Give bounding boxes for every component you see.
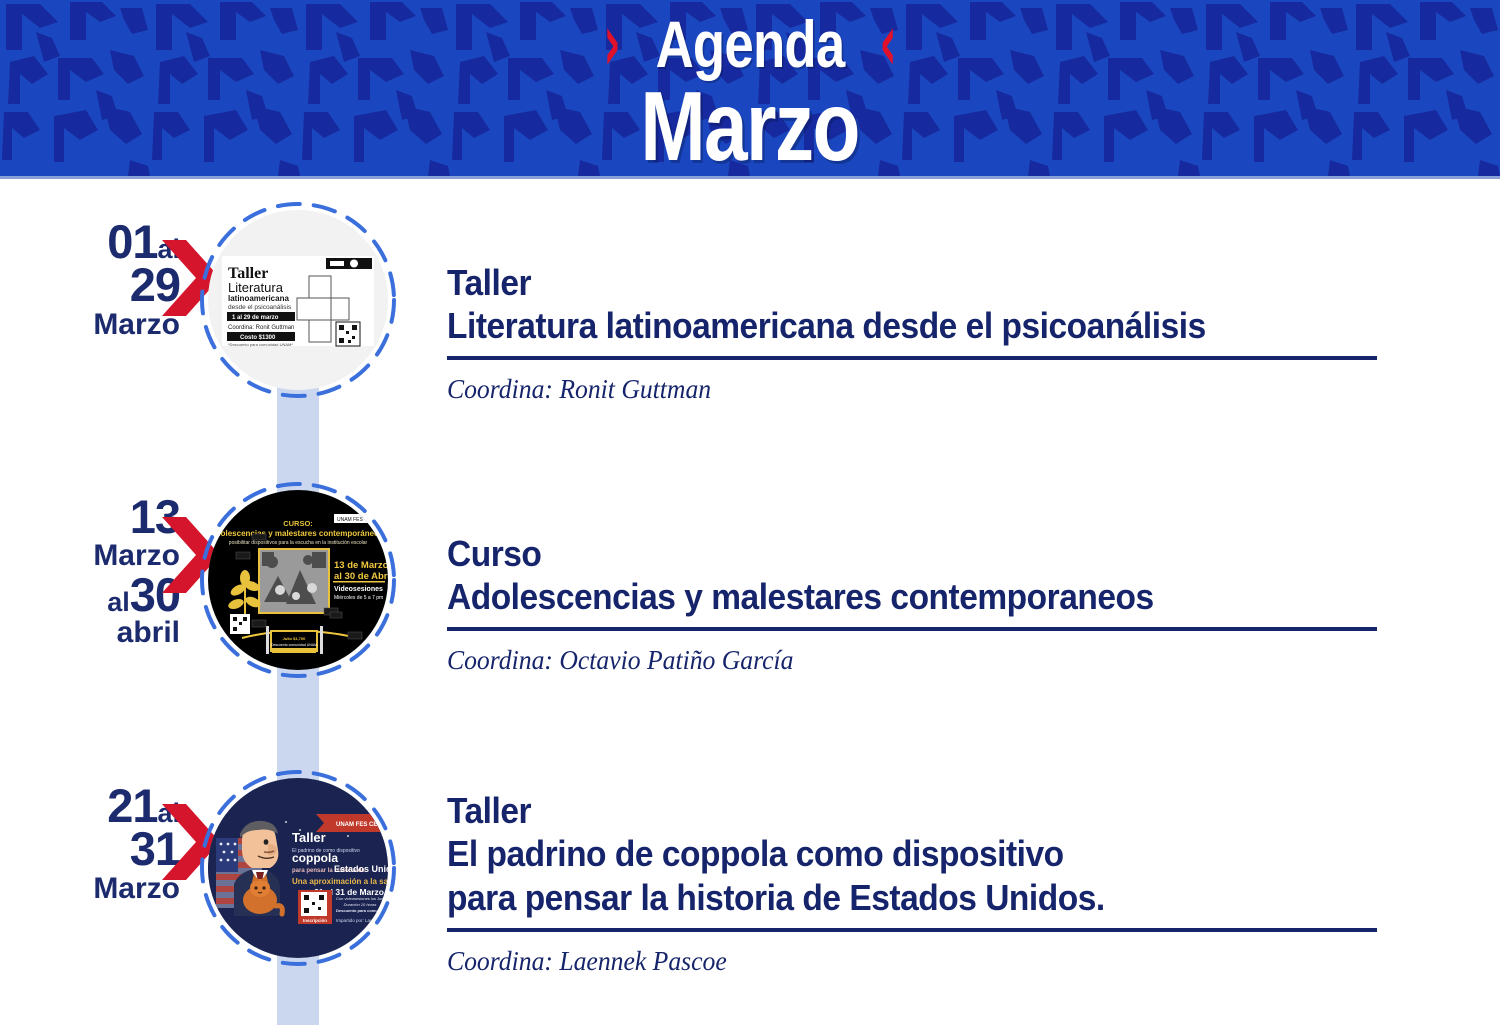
header-kicker: Agenda (656, 8, 845, 80)
svg-text:Julio $1,700: Julio $1,700 (283, 636, 306, 641)
page-header: › Agenda ‹ Marzo (0, 0, 1500, 176)
svg-text:posibilitar dispositivos para: posibilitar dispositivos para la escucha… (229, 540, 368, 546)
svg-text:al 30 de Abril: al 30 de Abril (334, 571, 388, 582)
entry-text: Taller El padrino de coppola como dispos… (447, 790, 1377, 978)
date-connector: al (107, 589, 130, 616)
svg-text:CURSO:: CURSO: (283, 519, 313, 528)
svg-text:latinoamericana: latinoamericana (228, 294, 289, 303)
agenda-entry[interactable]: 21 al 31 Marzo (0, 770, 1500, 1020)
header-divider (0, 176, 1500, 179)
svg-text:Una aproximación a la saga Cor: Una aproximación a la saga Corleone (292, 877, 388, 886)
chevron-right-icon: › (603, 4, 620, 84)
svg-text:Impartido por: Laennek Pascoe: Impartido por: Laennek Pascoe (336, 918, 388, 923)
svg-text:UNAM FES: UNAM FES (337, 517, 364, 523)
poster-image: UNAM FES CURSO: Adolescencias y malestar… (208, 490, 388, 670)
svg-text:Descuento comunidad UNAM: Descuento comunidad UNAM (271, 643, 317, 647)
svg-text:UNAM FES CEI: UNAM FES CEI (336, 822, 379, 828)
entry-thumbnail[interactable]: UNAM FES CEI Taller El padrino de como d… (208, 778, 388, 958)
entry-divider (447, 928, 1377, 932)
svg-text:Con videosesiones los Jueves d: Con videosesiones los Jueves de 6 a 8 pm (336, 896, 388, 901)
svg-text:Inscripción: Inscripción (303, 918, 327, 923)
entry-text: Taller Literatura latinoamericana desde … (447, 262, 1377, 406)
entry-coordinator: Coordina: Laennek Pascoe (447, 944, 1331, 978)
svg-text:13 de Marzo: 13 de Marzo (334, 560, 388, 571)
svg-text:1 al 29 de marzo: 1 al 29 de marzo (232, 315, 279, 321)
svg-text:Miércoles de 5 a 7 pm: Miércoles de 5 a 7 pm (334, 595, 383, 601)
svg-text:Taller: Taller (292, 830, 326, 845)
entry-coordinator: Coordina: Octavio Patiño García (447, 643, 1331, 677)
entry-text: Curso Adolescencias y malestares contemp… (447, 533, 1377, 677)
agenda-entry[interactable]: 13 Marzo al 30 abril UNAM FES CURSO: Ado… (0, 485, 1500, 715)
agenda-entry[interactable]: 01 al 29 Marzo Taller Literatu (0, 200, 1500, 430)
svg-text:Adolescencias y malestares con: Adolescencias y malestares contemporáneo… (210, 529, 386, 538)
entry-divider (447, 356, 1377, 360)
svg-text:Descuento para comunidad local: Descuento para comunidad local/UNAM (336, 908, 388, 913)
entry-thumbnail[interactable]: UNAM FES CURSO: Adolescencias y malestar… (208, 490, 388, 670)
qr-code-icon (301, 892, 327, 916)
svg-text:Costo $1300: Costo $1300 (240, 335, 276, 341)
entry-title: Literatura latinoamericana desde el psic… (447, 304, 1312, 348)
qr-code-icon (336, 322, 360, 346)
entry-divider (447, 627, 1377, 631)
poster-image: Taller Literatura latinoamericana desde … (208, 210, 388, 390)
svg-text:Duración 10 horas: Duración 10 horas (344, 902, 377, 907)
poster-image: UNAM FES CEI Taller El padrino de como d… (208, 778, 388, 958)
entry-title-line2: para pensar la historia de Estados Unido… (447, 876, 1312, 920)
svg-text:desde el psicoanálisis: desde el psicoanálisis (228, 304, 292, 311)
entry-kicker: Curso (447, 533, 1312, 575)
svg-text:Estados Unidos.: Estados Unidos. (334, 864, 388, 874)
entry-thumbnail[interactable]: Taller Literatura latinoamericana desde … (208, 210, 388, 390)
header-month: Marzo (641, 78, 860, 174)
entry-title-line1: El padrino de coppola como dispositivo (447, 832, 1312, 876)
date-month-end: abril (117, 618, 180, 648)
entry-kicker: Taller (447, 262, 1312, 304)
entry-coordinator: Coordina: Ronit Guttman (447, 372, 1331, 406)
entry-title: Adolescencias y malestares contemporaneo… (447, 575, 1312, 619)
svg-text:*Descuento para comunidad UNAM: *Descuento para comunidad UNAM* (228, 342, 293, 347)
qr-code-icon (230, 614, 250, 634)
entry-kicker: Taller (447, 790, 1312, 832)
svg-text:coppola: coppola (292, 851, 338, 865)
chevron-left-icon: ‹ (879, 4, 896, 84)
svg-text:Coordina: Ronit Guttman: Coordina: Ronit Guttman (228, 325, 294, 331)
svg-text:Literatura: Literatura (228, 280, 284, 295)
svg-text:Videosesiones: Videosesiones (334, 586, 383, 593)
